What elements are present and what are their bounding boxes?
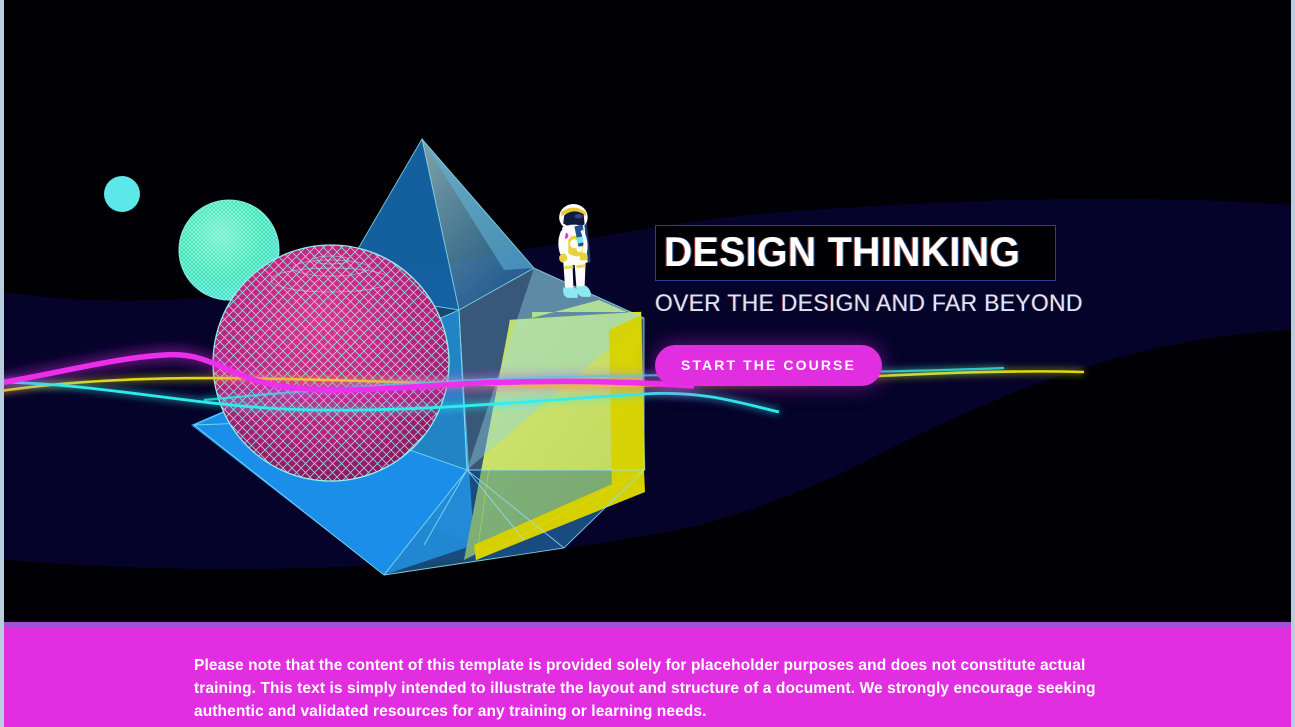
- disclaimer-banner: Please note that the content of this tem…: [4, 622, 1291, 727]
- page-subtitle: OVER THE DESIGN AND FAR BEYOND: [655, 289, 1083, 319]
- hero-artwork: DESIGN THINKING OVER THE DESIGN AND FAR …: [4, 0, 1291, 622]
- hero-text-block: DESIGN THINKING OVER THE DESIGN AND FAR …: [655, 225, 1105, 386]
- disclaimer-text: Please note that the content of this tem…: [194, 654, 1124, 723]
- page-title: DESIGN THINKING: [664, 228, 1020, 276]
- title-box: DESIGN THINKING: [655, 225, 1056, 281]
- banner-top-edge: [4, 622, 1291, 627]
- frame-edge-right: [1291, 0, 1295, 727]
- frame-edge-left: [0, 0, 4, 727]
- start-the-course-button[interactable]: START THE COURSE: [655, 345, 882, 386]
- slide-canvas: DESIGN THINKING OVER THE DESIGN AND FAR …: [0, 0, 1295, 727]
